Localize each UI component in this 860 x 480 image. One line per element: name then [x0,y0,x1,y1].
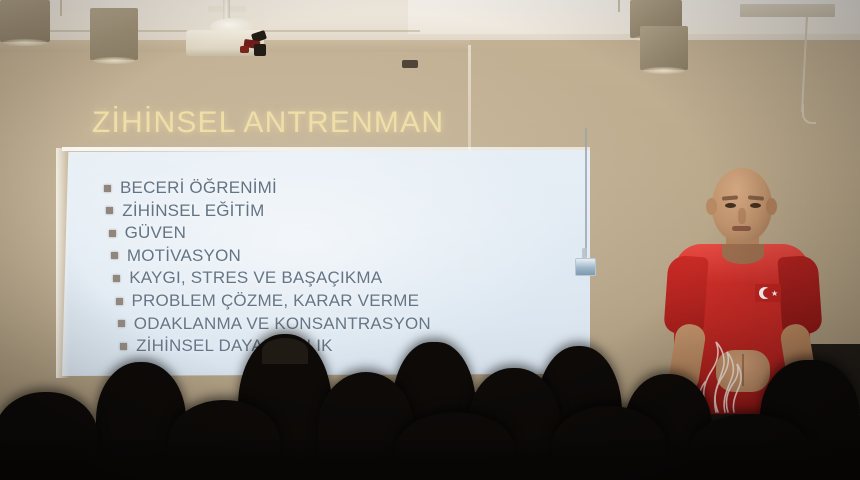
bullet-marker-icon [113,275,120,282]
slide-bullet-item: KAYGI, STRES VE BAŞAÇIKMA [113,268,382,288]
presenter-mouth [732,226,751,231]
projection-screen: BECERİ ÖĞRENİMİZİHİNSEL EĞİTİMGÜVENMOTİV… [62,150,590,376]
bullet-marker-icon [104,185,111,192]
bullet-label: MOTİVASYON [127,246,241,266]
screen-remote-device [575,258,596,276]
presenter-eye-left [725,203,736,208]
audience-hair-highlight [262,338,308,364]
screen-left-highlight [56,148,70,378]
ceiling-vent [740,4,835,17]
bullet-marker-icon [106,207,113,214]
bullet-marker-icon [111,252,118,259]
pendant-light-icon [640,26,688,70]
star-icon: ★ [771,290,778,298]
bullet-marker-icon [116,298,123,305]
presenter-ear-left [706,198,717,215]
presenter-eye-right [750,203,761,208]
bullet-marker-icon [109,230,116,237]
projector-lens [402,60,418,68]
slide-bullet-item: MOTİVASYON [111,246,241,266]
slide-bullet-item: PROBLEM ÇÖZME, KARAR VERME [116,291,420,311]
bullet-label: KAYGI, STRES VE BAŞAÇIKMA [129,268,382,288]
bullet-label: PROBLEM ÇÖZME, KARAR VERME [132,291,420,311]
pendant-light-icon [90,8,138,60]
presenter-ear-right [766,198,777,215]
pendant-rod [60,0,62,16]
bullet-marker-icon [118,320,125,327]
crescent-icon [759,287,771,299]
bullet-label: BECERİ ÖĞRENİMİ [120,178,277,198]
slide-bullet-list: BECERİ ÖĞRENİMİZİHİNSEL EĞİTİMGÜVENMOTİV… [62,150,590,376]
slide-bullet-item: ODAKLANMA VE KONSANTRASYON [118,314,431,334]
presenter-sleeve-right [777,255,822,336]
pendant-rod [618,0,620,12]
screen-cord [585,128,587,256]
foreground-shadow [0,440,860,480]
bullet-marker-icon [120,343,127,350]
presenter-collar [722,244,764,264]
lecture-photo: ZİHİNSEL ANTRENMAN BECERİ ÖĞRENİMİZİHİNS… [0,0,860,480]
slide-bullet-item: ZİHİNSEL EĞİTİM [106,201,264,221]
turkish-flag-icon: ★ [755,284,781,302]
projector-cables [238,30,270,56]
pendant-light-icon [0,0,50,42]
bullet-label: GÜVEN [125,223,186,243]
slide-bullet-item: BECERİ ÖĞRENİMİ [104,178,277,198]
presenter-nose [738,208,746,224]
bullet-label: ZİHİNSEL EĞİTİM [122,201,264,221]
bullet-label: ODAKLANMA VE KONSANTRASYON [134,314,431,334]
slide-bullet-item: GÜVEN [109,223,186,243]
slide-title: ZİHİNSEL ANTRENMAN [92,106,444,140]
hanging-cable-loop [802,104,816,124]
